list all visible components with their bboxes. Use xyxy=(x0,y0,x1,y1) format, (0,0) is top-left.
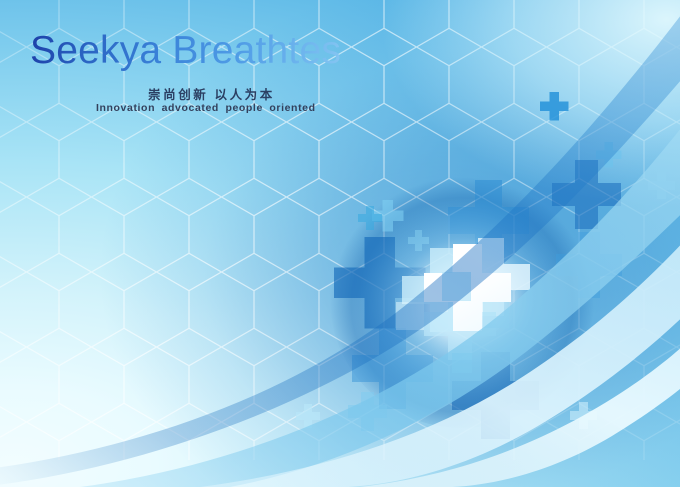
background-gradient xyxy=(0,0,680,487)
swoosh-ribbons xyxy=(0,0,680,487)
hexagon-pattern xyxy=(0,0,680,487)
slogan-english: Innovation advocated people oriented xyxy=(96,102,316,114)
page-title: Seekya Breathtes xyxy=(30,30,341,72)
banner-canvas: Seekya Breathtes 崇尚创新 以人为本 Innovation ad… xyxy=(0,0,680,487)
slogan-chinese: 崇尚创新 以人为本 xyxy=(148,84,275,103)
cross-tile-group-core-frame xyxy=(402,238,530,360)
cross-overlay-squares xyxy=(396,272,509,373)
cross-tile-group-back xyxy=(334,160,622,439)
corner-highlight xyxy=(0,0,680,487)
medical-cross-icon xyxy=(424,244,511,331)
cross-tile-field xyxy=(0,0,680,487)
background-blue-glow xyxy=(0,0,680,487)
cross-tile-group-accents xyxy=(296,92,675,431)
